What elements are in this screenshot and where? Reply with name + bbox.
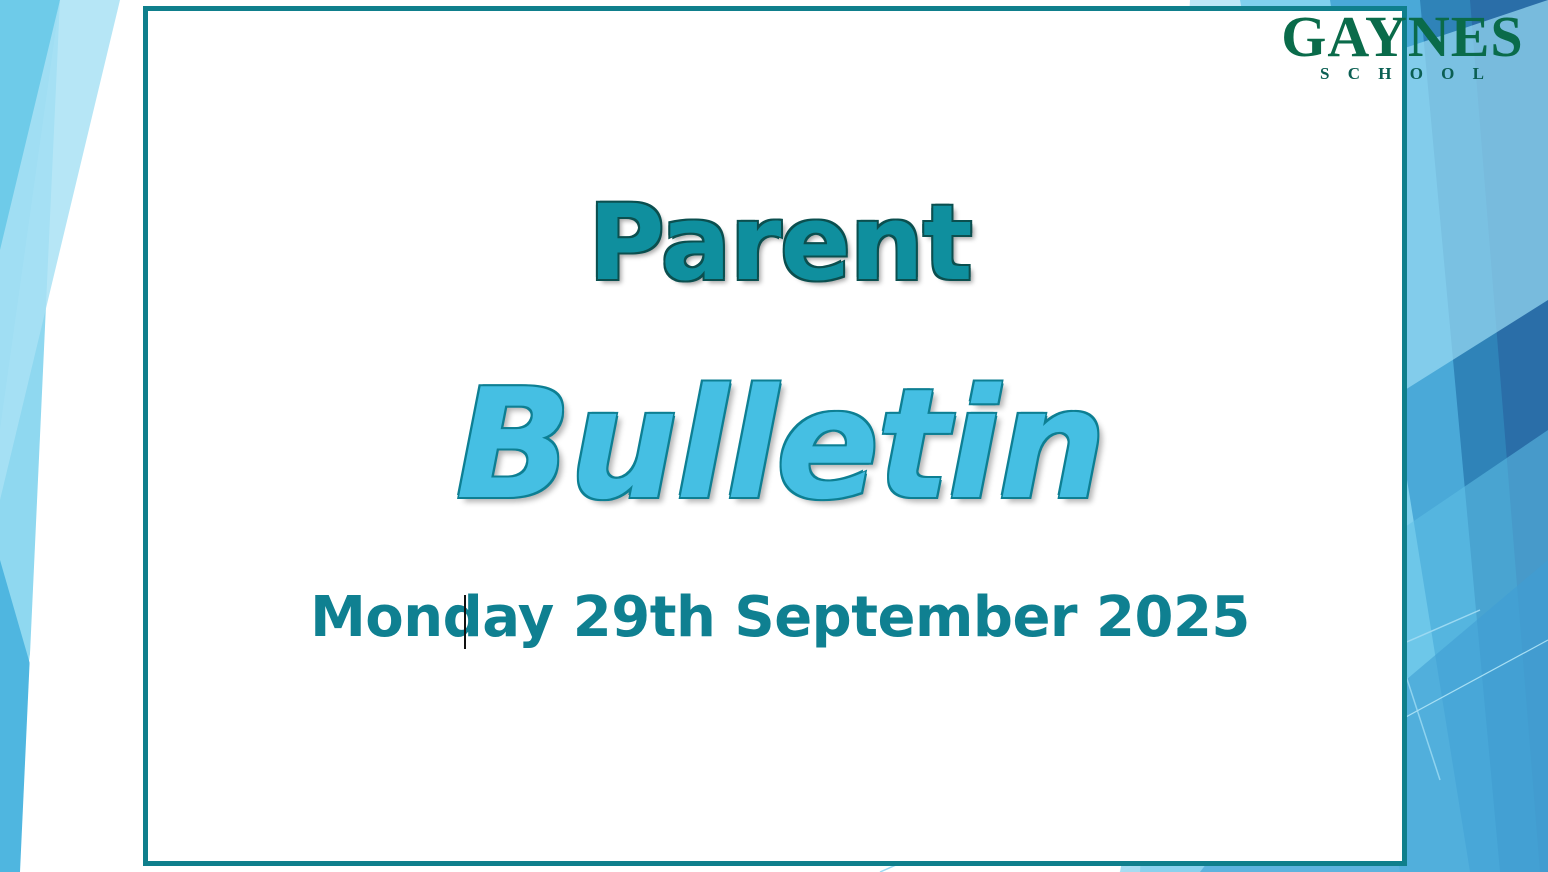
slide-content-panel: Parent Bulletin Monday 29th September 20… [143, 6, 1407, 866]
slide-title-parent: Parent [148, 183, 1412, 303]
school-logo-name: GAYNES [1275, 6, 1530, 68]
presentation-slide: Parent Bulletin Monday 29th September 20… [0, 0, 1548, 872]
text-cursor [464, 595, 466, 649]
slide-date: Monday 29th September 2025 [148, 584, 1412, 652]
slide-title-bulletin: Bulletin [148, 359, 1412, 531]
school-logo: GAYNES S C H O O L [1275, 6, 1530, 98]
